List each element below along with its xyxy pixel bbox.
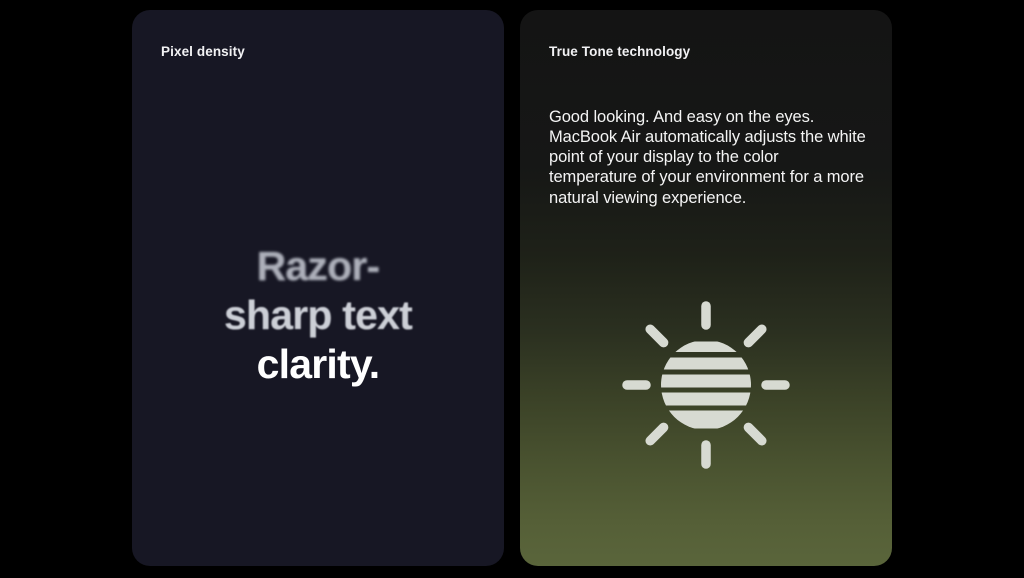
headline-line-sharp: clarity. [132,340,504,389]
sun-brightness-icon [616,295,796,475]
card-true-tone-body: Good looking. And easy on the eyes. MacB… [549,107,869,208]
card-true-tone-eyebrow: True Tone technology [549,44,690,59]
screenshot-stage: Pixel density Razor- sharp text clarity.… [0,0,1024,578]
card-pixel-density[interactable]: Pixel density Razor- sharp text clarity. [132,10,504,566]
card-pixel-density-eyebrow: Pixel density [161,44,245,59]
headline-line-semi-sharp: sharp text [132,291,504,340]
pixel-density-headline: Razor- sharp text clarity. [132,242,504,389]
headline-line-blurry: Razor- [132,242,504,291]
card-true-tone[interactable]: True Tone technology Good looking. And e… [520,10,892,566]
